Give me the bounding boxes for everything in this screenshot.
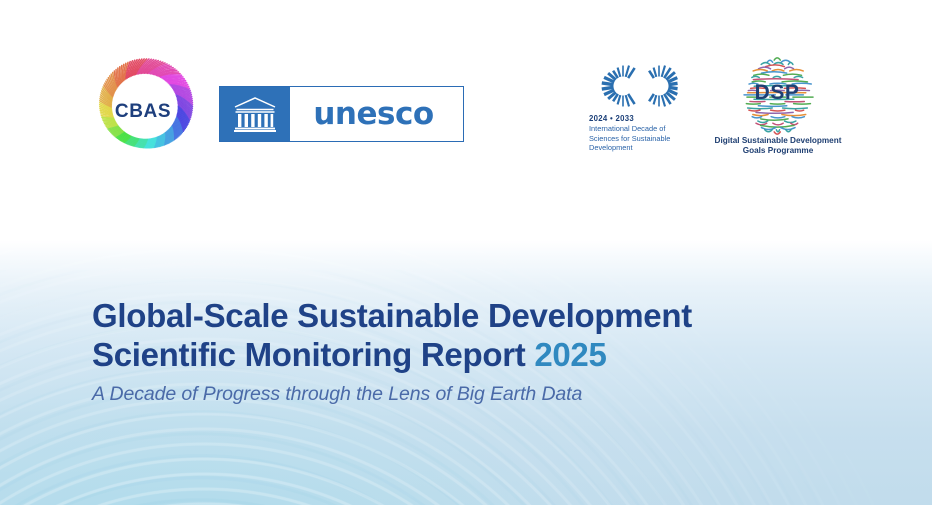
dsp-wordmark: DSP [733, 52, 821, 134]
title-line-1: Global-Scale Sustainable Development [92, 297, 692, 334]
page-title: Global-Scale Sustainable Development Sci… [92, 296, 862, 374]
decade-logo-caption: 2024 • 2033 International Decade of Scie… [589, 114, 694, 153]
dsp-logo: DSP Digital Sustainable Development Goal… [703, 56, 853, 160]
cbas-logo: CBAS [89, 58, 197, 166]
report-cover: CBAS [0, 0, 932, 505]
dsp-logo-caption: Digital Sustainable Development Goals Pr… [703, 136, 853, 157]
cbas-wordmark: CBAS [89, 58, 197, 166]
title-line-2: Scientific Monitoring Report [92, 336, 525, 373]
decade-years: 2024 • 2033 [589, 114, 694, 123]
unesco-wordmark: unesco [290, 87, 463, 141]
unesco-temple-icon [220, 87, 290, 141]
decade-of-sciences-logo: 2024 • 2033 International Decade of Scie… [589, 60, 694, 160]
title-block: Global-Scale Sustainable Development Sci… [92, 296, 862, 406]
decade-infinity-burst-icon [595, 60, 689, 112]
page-subtitle: A Decade of Progress through the Lens of… [92, 383, 862, 406]
title-year: 2025 [534, 336, 606, 373]
decade-caption-text: International Decade of Sciences for Sus… [589, 124, 670, 152]
unesco-logo: unesco [219, 86, 464, 142]
partner-logo-bar: CBAS [0, 0, 932, 200]
